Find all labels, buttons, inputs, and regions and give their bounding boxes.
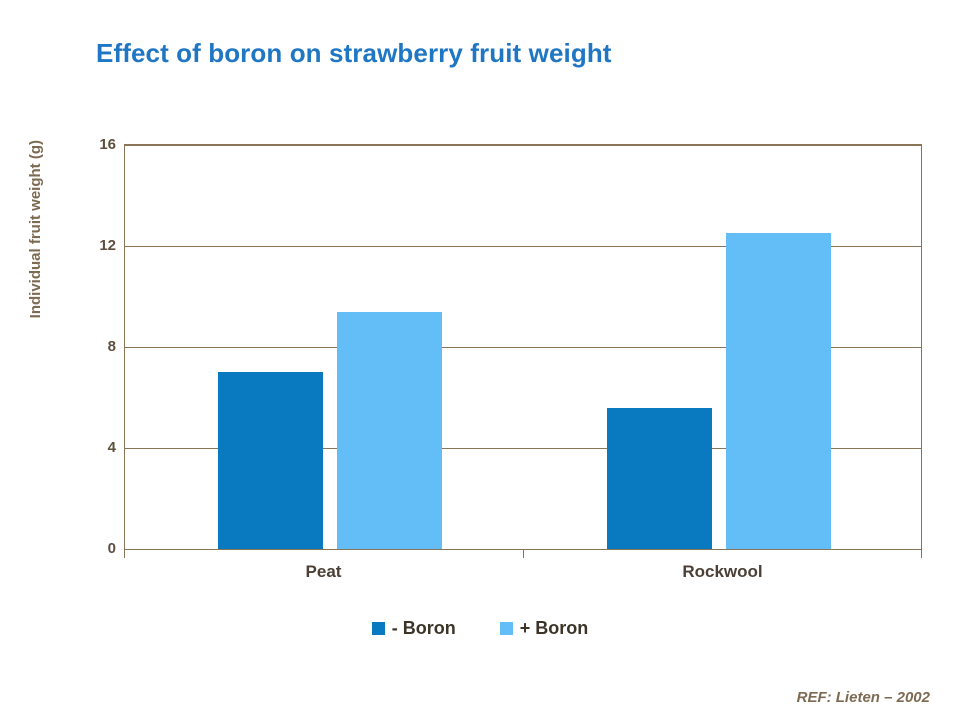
bar-peat-plus-boron[interactable] xyxy=(337,312,442,549)
legend-label-minus-boron: - Boron xyxy=(392,618,456,639)
y-tick-label-16: 16 xyxy=(74,136,116,153)
bar-peat-minus-boron[interactable] xyxy=(218,372,323,549)
x-axis-category-labels: Peat Rockwool xyxy=(124,562,922,586)
chart-title: Effect of boron on strawberry fruit weig… xyxy=(96,38,612,69)
bar-rockwool-plus-boron[interactable] xyxy=(726,233,831,549)
legend-swatch-plus-boron xyxy=(500,622,513,635)
bar-rockwool-minus-boron[interactable] xyxy=(607,408,712,549)
legend-item-plus-boron[interactable]: + Boron xyxy=(500,618,589,639)
reference-note: REF: Lieten – 2002 xyxy=(797,689,930,706)
axis-tick-right xyxy=(921,550,922,558)
y-axis-title: Individual fruit weight (g) xyxy=(24,140,46,450)
y-tick-label-0: 0 xyxy=(74,540,116,557)
axis-tick-left xyxy=(124,550,125,558)
legend-label-plus-boron: + Boron xyxy=(520,618,589,639)
y-tick-label-12: 12 xyxy=(74,237,116,254)
legend-swatch-minus-boron xyxy=(372,622,385,635)
y-tick-label-8: 8 xyxy=(74,338,116,355)
y-axis-tick-labels: 16 12 8 4 0 xyxy=(68,144,116,550)
category-label-rockwool: Rockwool xyxy=(523,562,922,582)
legend: - Boron + Boron xyxy=(0,618,960,639)
plot-area xyxy=(124,144,922,550)
y-axis-title-label: Individual fruit weight (g) xyxy=(27,140,44,318)
legend-item-minus-boron[interactable]: - Boron xyxy=(372,618,456,639)
category-label-peat: Peat xyxy=(124,562,523,582)
y-tick-label-4: 4 xyxy=(74,439,116,456)
gridline-16 xyxy=(125,145,921,146)
axis-tick-middle xyxy=(523,550,524,558)
